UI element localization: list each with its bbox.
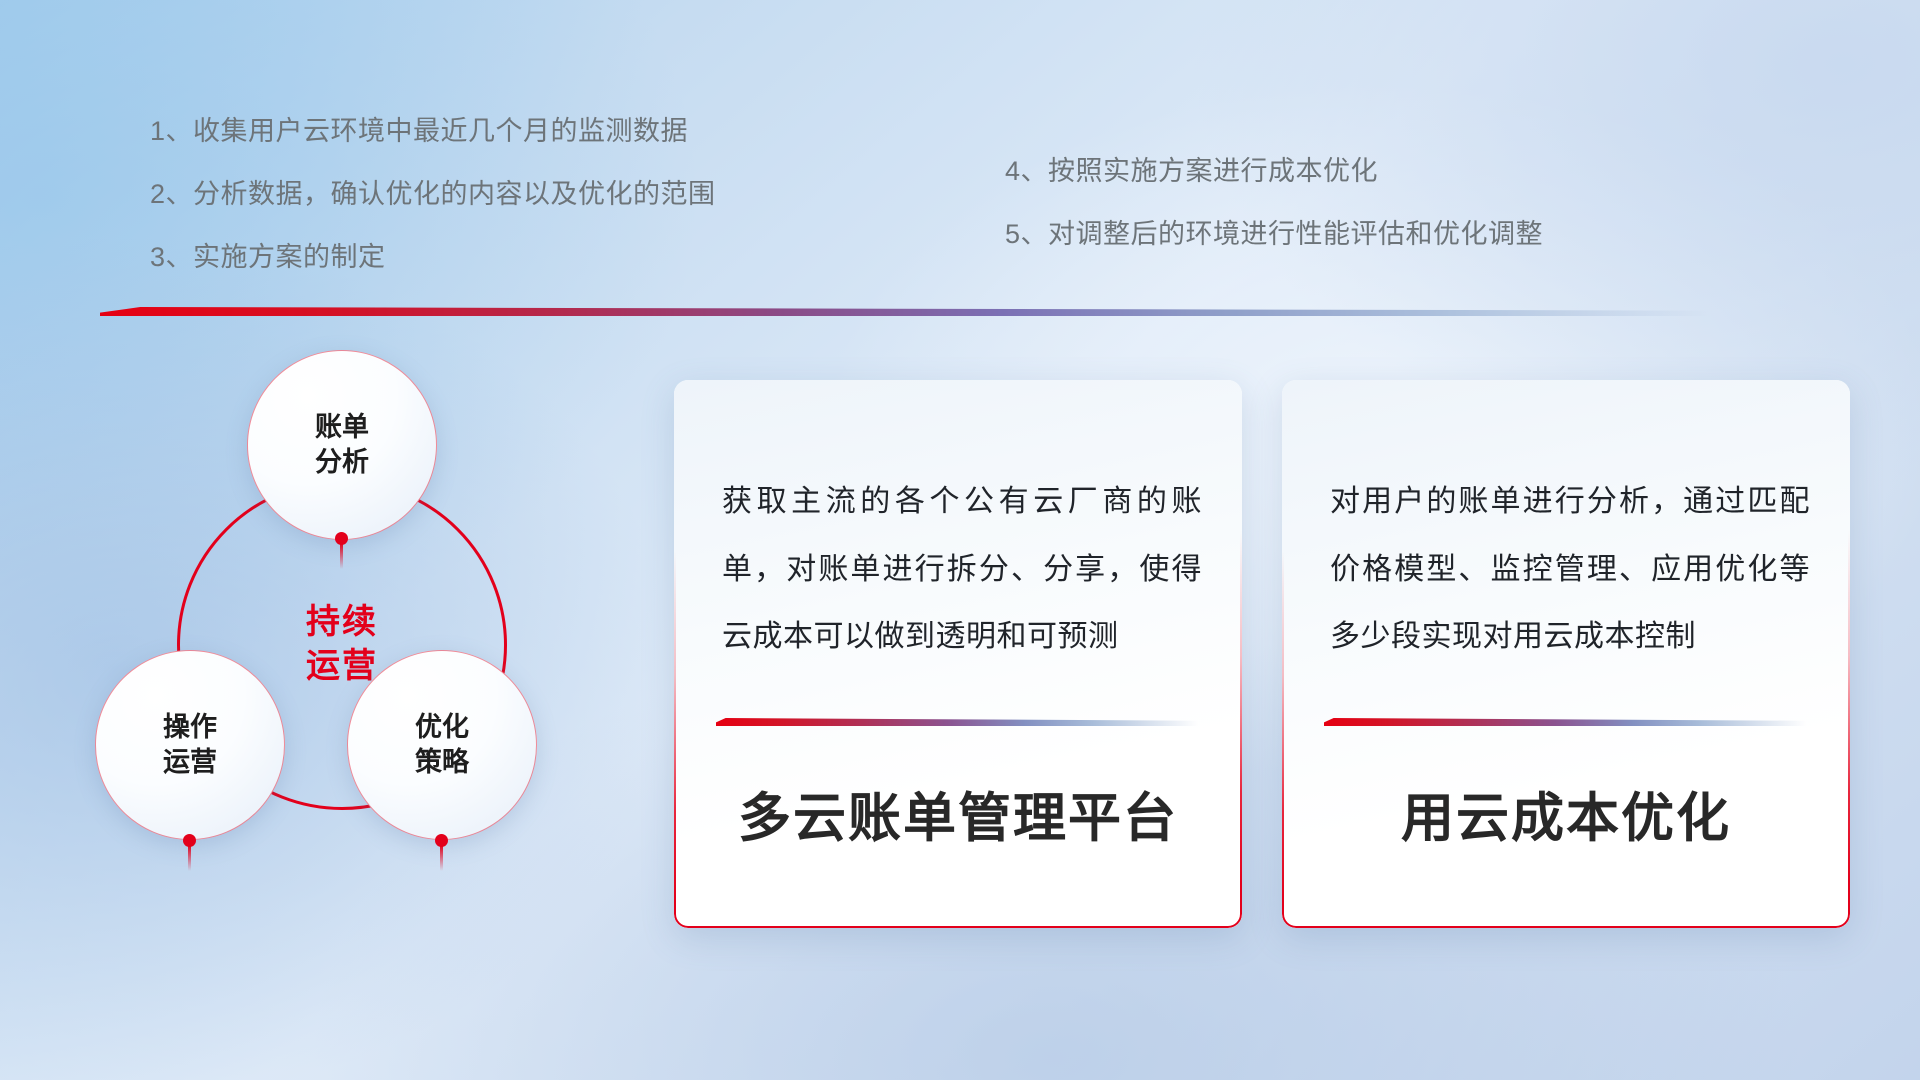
- card-multicloud-billing[interactable]: 获取主流的各个公有云厂商的账单，对账单进行拆分、分享，使得云成本可以做到透明和可…: [674, 380, 1242, 928]
- card-accent-rule: [716, 718, 1198, 726]
- node-dot-icon: [183, 834, 196, 847]
- card-description: 对用户的账单进行分析，通过匹配价格模型、监控管理、应用优化等多少段实现对用云成本…: [1330, 468, 1810, 671]
- step-list-right: 4、按照实施方案进行成本优化 5、对调整后的环境进行性能评估和优化调整: [1005, 158, 1543, 248]
- card-surface: 对用户的账单进行分析，通过匹配价格模型、监控管理、应用优化等多少段实现对用云成本…: [1282, 380, 1850, 928]
- section-divider: [100, 307, 1710, 316]
- slide-canvas: 1、收集用户云环境中最近几个月的监测数据 2、分析数据，确认优化的内容以及优化的…: [0, 0, 1920, 1080]
- bubble-label-line1: 操作: [163, 710, 217, 745]
- card-title: 多云账单管理平台: [674, 776, 1242, 852]
- venn-diagram: 持续 运营 账单 分析 操作 运营 优化 策略: [95, 350, 675, 950]
- step-item: 2、分析数据，确认优化的内容以及优化的范围: [150, 181, 716, 208]
- bubble-label-line2: 运营: [163, 745, 217, 780]
- bubble-label-line2: 策略: [415, 745, 469, 780]
- bubble-label-line2: 分析: [315, 445, 369, 480]
- step-item: 3、实施方案的制定: [150, 244, 716, 271]
- bubble-optimization-strategy[interactable]: 优化 策略: [347, 650, 537, 840]
- card-title: 用云成本优化: [1282, 776, 1850, 852]
- step-item: 5、对调整后的环境进行性能评估和优化调整: [1005, 221, 1543, 248]
- bubble-label-line1: 账单: [315, 410, 369, 445]
- card-surface: 获取主流的各个公有云厂商的账单，对账单进行拆分、分享，使得云成本可以做到透明和可…: [674, 380, 1242, 928]
- step-list-left: 1、收集用户云环境中最近几个月的监测数据 2、分析数据，确认优化的内容以及优化的…: [150, 118, 716, 271]
- bubble-label-line1: 优化: [415, 710, 469, 745]
- center-label-line2: 运营: [306, 645, 378, 689]
- card-accent-rule: [1324, 718, 1806, 726]
- node-dot-icon: [335, 532, 348, 545]
- bubble-bill-analysis[interactable]: 账单 分析: [247, 350, 437, 540]
- node-dot-icon: [435, 834, 448, 847]
- card-description: 获取主流的各个公有云厂商的账单，对账单进行拆分、分享，使得云成本可以做到透明和可…: [722, 468, 1202, 671]
- step-item: 1、收集用户云环境中最近几个月的监测数据: [150, 118, 716, 145]
- center-label-line1: 持续: [306, 601, 378, 645]
- step-item: 4、按照实施方案进行成本优化: [1005, 158, 1543, 185]
- card-cloud-cost-optimization[interactable]: 对用户的账单进行分析，通过匹配价格模型、监控管理、应用优化等多少段实现对用云成本…: [1282, 380, 1850, 928]
- bubble-operations[interactable]: 操作 运营: [95, 650, 285, 840]
